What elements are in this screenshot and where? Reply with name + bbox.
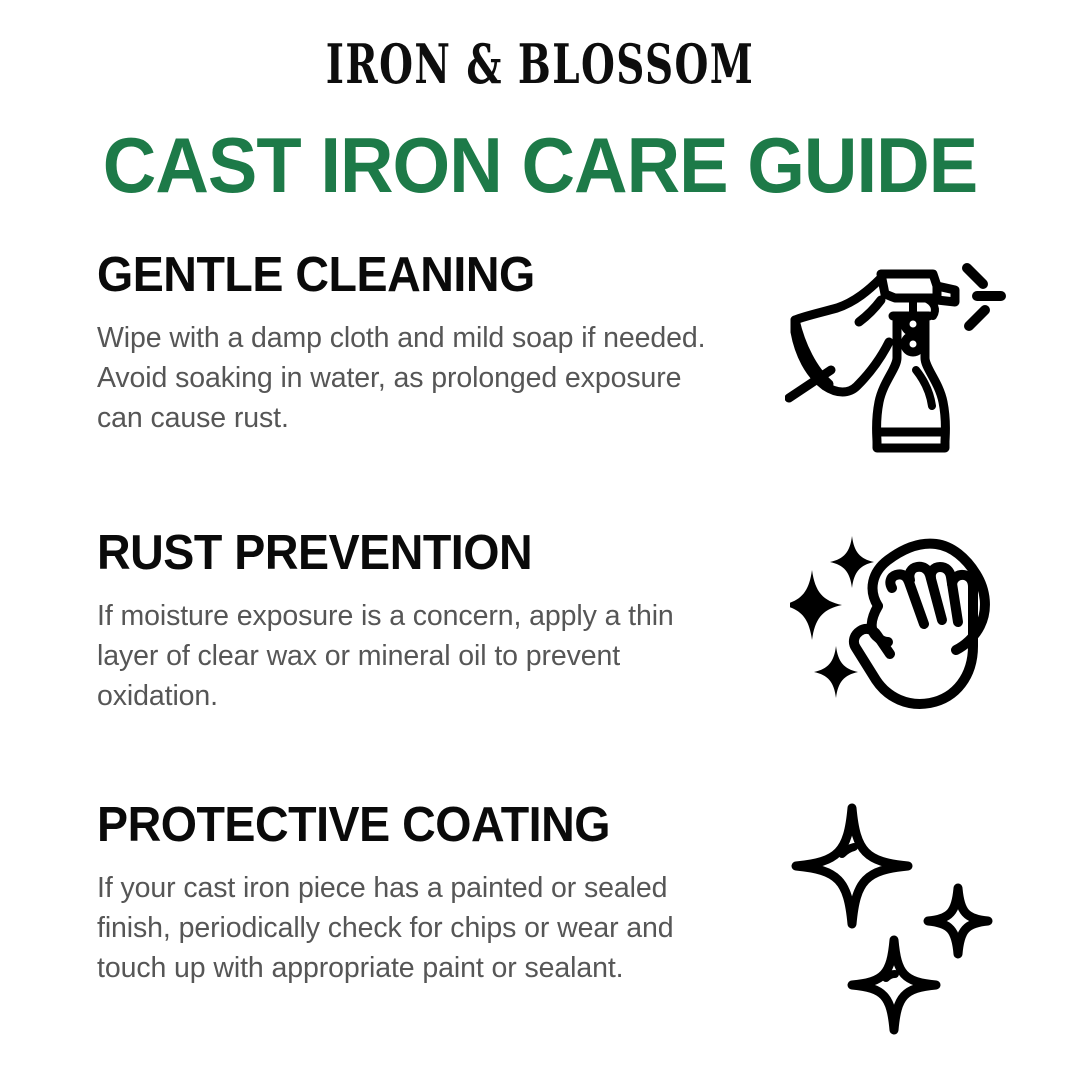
section-text-block: GENTLE CLEANING Wipe with a damp cloth a… — [0, 246, 720, 438]
section-heading: RUST PREVENTION — [97, 524, 689, 582]
section-body: If your cast iron piece has a painted or… — [97, 868, 720, 988]
section-body: Wipe with a damp cloth and mild soap if … — [97, 318, 720, 438]
three-sparkles-icon — [780, 800, 1020, 1035]
sparkle-shapes — [790, 536, 874, 698]
section-body: If moisture exposure is a concern, apply… — [97, 596, 720, 716]
care-section-rust-prevention: RUST PREVENTION If moisture exposure is … — [0, 524, 1080, 723]
care-section-protective-coating: PROTECTIVE COATING If your cast iron pie… — [0, 796, 1080, 1035]
section-icon-wrapper — [720, 796, 1080, 1035]
spray-bottle-in-hand-icon — [785, 250, 1015, 460]
section-icon-wrapper — [720, 524, 1080, 723]
section-icon-wrapper — [720, 246, 1080, 460]
section-heading: PROTECTIVE COATING — [97, 796, 689, 854]
care-section-gentle-cleaning: GENTLE CLEANING Wipe with a damp cloth a… — [0, 246, 1080, 460]
care-guide-page: IRON & BLOSSOM CAST IRON CARE GUIDE GENT… — [0, 0, 1080, 1080]
page-title: CAST IRON CARE GUIDE — [27, 122, 1053, 208]
section-heading: GENTLE CLEANING — [97, 246, 689, 304]
section-text-block: PROTECTIVE COATING If your cast iron pie… — [0, 796, 720, 988]
hand-wiping-cloth-sparkle-icon — [790, 528, 1010, 723]
section-text-block: RUST PREVENTION If moisture exposure is … — [0, 524, 720, 716]
brand-logo: IRON & BLOSSOM — [151, 34, 929, 94]
